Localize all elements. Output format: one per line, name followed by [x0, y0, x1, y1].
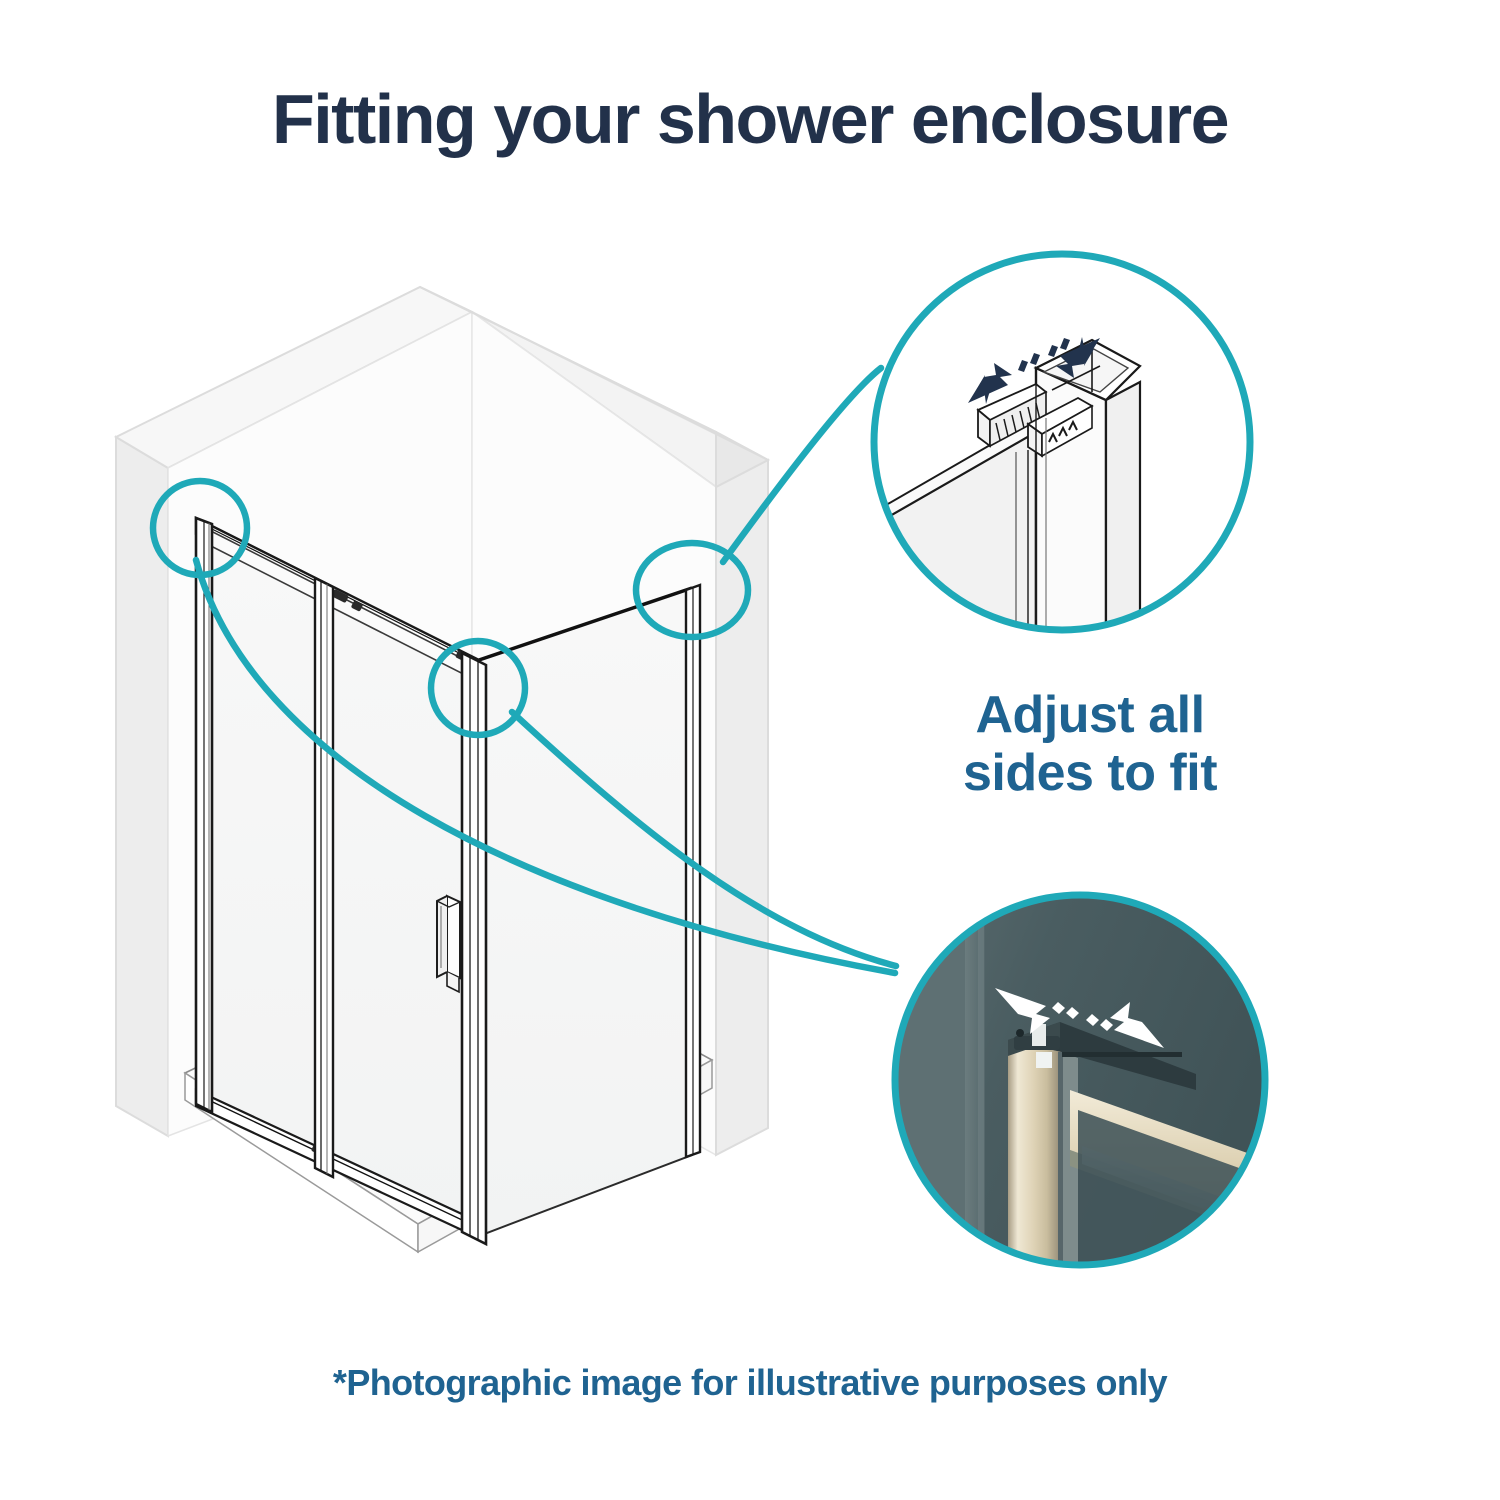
- connector-right-to-linedrawing: [723, 368, 881, 562]
- poster-canvas: Fitting your shower enclosure: [0, 0, 1500, 1500]
- highlight-corner-post: [431, 641, 525, 735]
- connector-left-to-photo: [196, 560, 895, 973]
- highlight-left-wall-profile: [153, 481, 247, 575]
- callout-overlay: [0, 0, 1500, 1500]
- highlight-right-wall-profile: [636, 543, 748, 637]
